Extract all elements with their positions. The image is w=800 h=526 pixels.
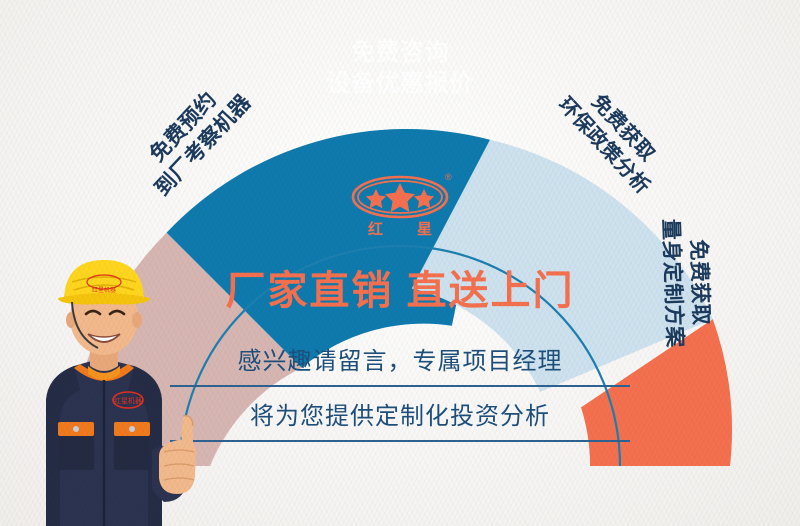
subtitle-line-1: 感兴趣请留言，专属项目经理 — [170, 332, 630, 385]
uniform-badge-text: 红星机器 — [114, 396, 142, 405]
logo-char-left: 红 — [368, 220, 383, 238]
red-star-logo-icon: ® 红 星 — [340, 170, 460, 246]
brand-logo: ® 红 星 — [340, 170, 460, 246]
logo-char-right: 星 — [417, 221, 432, 238]
subtitle-line-2: 将为您提供定制化投资分析 — [170, 385, 630, 442]
center-content: ® 红 星 厂家直销 直送上门 感兴趣请留言，专属项目经理 将为您提供定制化投资… — [170, 170, 630, 442]
registered-mark-glyph: ® — [445, 172, 452, 182]
headline: 厂家直销 直送上门 — [170, 258, 630, 316]
worker-photo: 红星机器 红星机器 — [2, 240, 222, 526]
helmet-badge-text: 红星机器 — [92, 286, 116, 294]
promo-banner: 免费预约 到厂考察机器 免费咨询 设备优惠报价 免费获取 环保政策分析 免费获取… — [0, 0, 800, 526]
